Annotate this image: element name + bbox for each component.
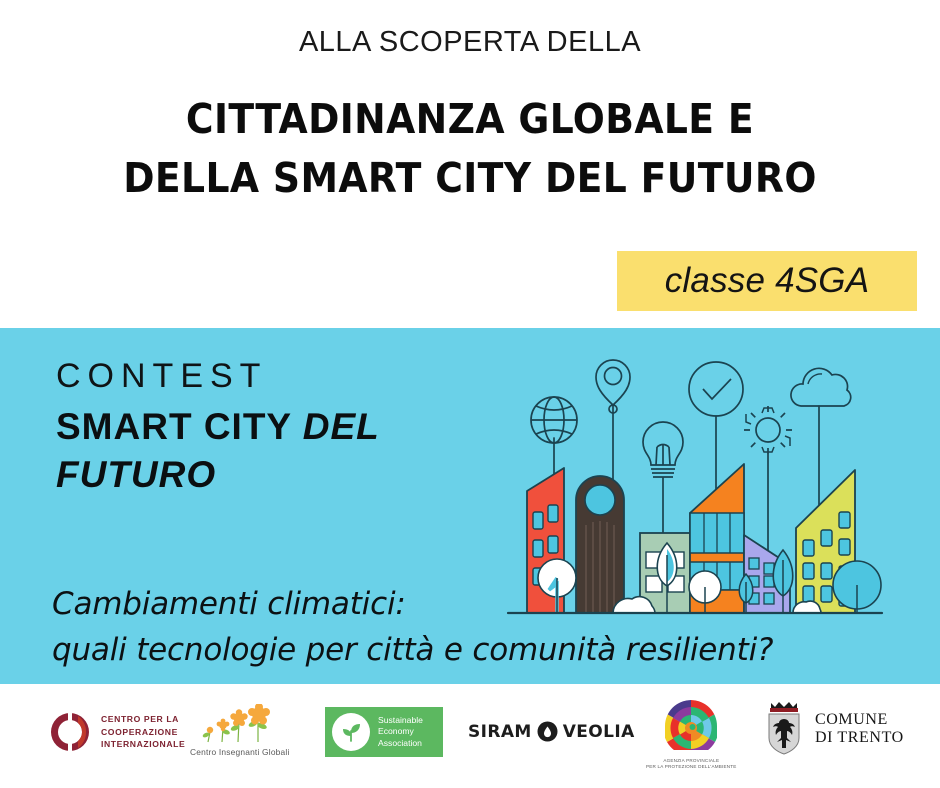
kicker-text: ALLA SCOPERTA DELLA [0,26,940,59]
siram-word: SIRAM [468,722,532,742]
contest-banner: CONTEST SMART CITY DEL FUTURO Cambiament… [0,328,940,684]
contest-label: CONTEST [56,355,506,397]
siram-veolia-logo: SIRAM VEOLIA [468,721,635,742]
appa-logo: AGENZIA PROVINCIALE PER LA PROTEZIONE DE… [646,700,737,770]
comune-di-trento-logo: COMUNE DI TRENTO [763,702,904,756]
sea-line-1: Sustainable [378,715,423,727]
trento-line-2: DI TRENTO [815,729,904,747]
trento-crest-icon [763,702,805,756]
page-title: CITTADINANZA GLOBALE E DELLA SMART CITY … [38,90,903,208]
dark-tower [576,476,624,613]
globe-icon [531,397,577,443]
trento-line-1: COMUNE [815,711,904,729]
sea-circle [332,713,370,751]
sea-line-2: Economy [378,726,423,738]
page-title-line-2: DELLA SMART CITY DEL FUTURO [38,149,903,208]
smart-city-illustration [500,350,890,640]
veolia-word: VEOLIA [563,722,635,742]
sea-text: Sustainable Economy Association [378,715,423,750]
cig-caption: Centro Insegnanti Globali [190,747,290,757]
sprout-icon [339,720,363,744]
sea-line-3: Association [378,738,423,750]
trento-text: COMUNE DI TRENTO [815,711,904,747]
contest-headline-part2: DEL [303,406,380,447]
cloud-icon [791,368,851,406]
gear-icon [744,406,792,454]
check-circle-icon [689,362,743,416]
sustainable-economy-association-logo: Sustainable Economy Association [325,707,443,757]
flowers-icon [194,704,286,744]
appa-caption: AGENZIA PROVINCIALE PER LA PROTEZIONE DE… [646,758,737,770]
class-badge-label: classe 4SGA [665,261,870,301]
header-area: ALLA SCOPERTA DELLA CITTADINANZA GLOBALE… [0,0,940,328]
appa-spiral-icon [660,700,722,756]
veolia-drop-icon [537,721,558,742]
lightbulb-icon [643,422,683,477]
appa-line-2: PER LA PROTEZIONE DELL'AMBIENTE [646,764,737,770]
cci-line-3: INTERNAZIONALE [101,738,185,751]
class-badge: classe 4SGA [617,251,917,311]
cci-text: CENTRO PER LA COOPERAZIONE INTERNAZIONAL… [101,713,185,751]
centro-cooperazione-internazionale-logo: CENTRO PER LA COOPERAZIONE INTERNAZIONAL… [48,710,185,754]
cci-line-1: CENTRO PER LA [101,713,185,726]
page-title-line-1: CITTADINANZA GLOBALE E [38,90,903,149]
centro-insegnanti-globali-logo: Centro Insegnanti Globali [190,704,290,757]
cci-circle-icon [48,710,92,754]
contest-headline: SMART CITY DEL FUTURO [56,403,506,499]
contest-heading-block: CONTEST SMART CITY DEL FUTURO [56,355,506,499]
map-pin-icon [596,360,630,413]
cci-line-2: COOPERAZIONE [101,726,185,739]
contest-headline-line2: FUTURO [56,451,506,499]
contest-headline-part1: SMART CITY [56,406,303,447]
